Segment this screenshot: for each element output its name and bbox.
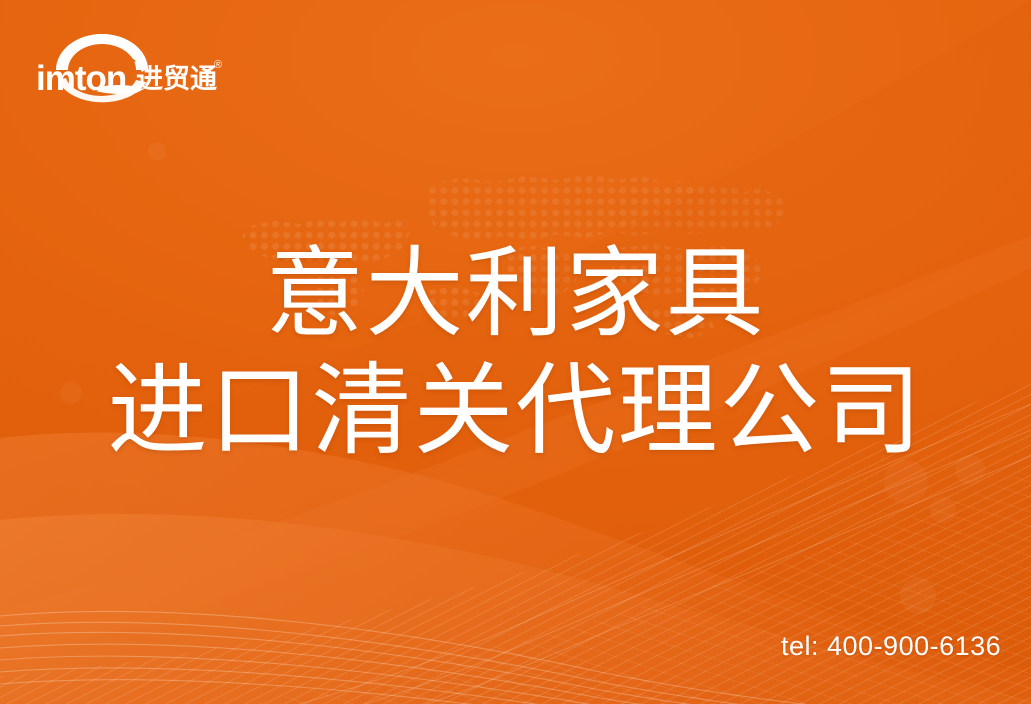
logo-latin-text: imton bbox=[36, 59, 126, 98]
brand-logo[interactable]: imton 进贸通 ® bbox=[32, 28, 232, 106]
contact-phone[interactable]: tel: 400-900-6136 bbox=[781, 633, 1001, 660]
registered-trademark-icon: ® bbox=[214, 59, 222, 71]
headline-line-2: 进口清关代理公司 bbox=[0, 352, 1031, 470]
poster-canvas: imton 进贸通 ® 意大利家具 进口清关代理公司 tel: 400-900-… bbox=[0, 0, 1031, 704]
logo-chinese-text: 进贸通 bbox=[136, 64, 217, 95]
page-title: 意大利家具 进口清关代理公司 bbox=[0, 236, 1031, 470]
headline-line-1: 意大利家具 bbox=[0, 236, 1031, 352]
